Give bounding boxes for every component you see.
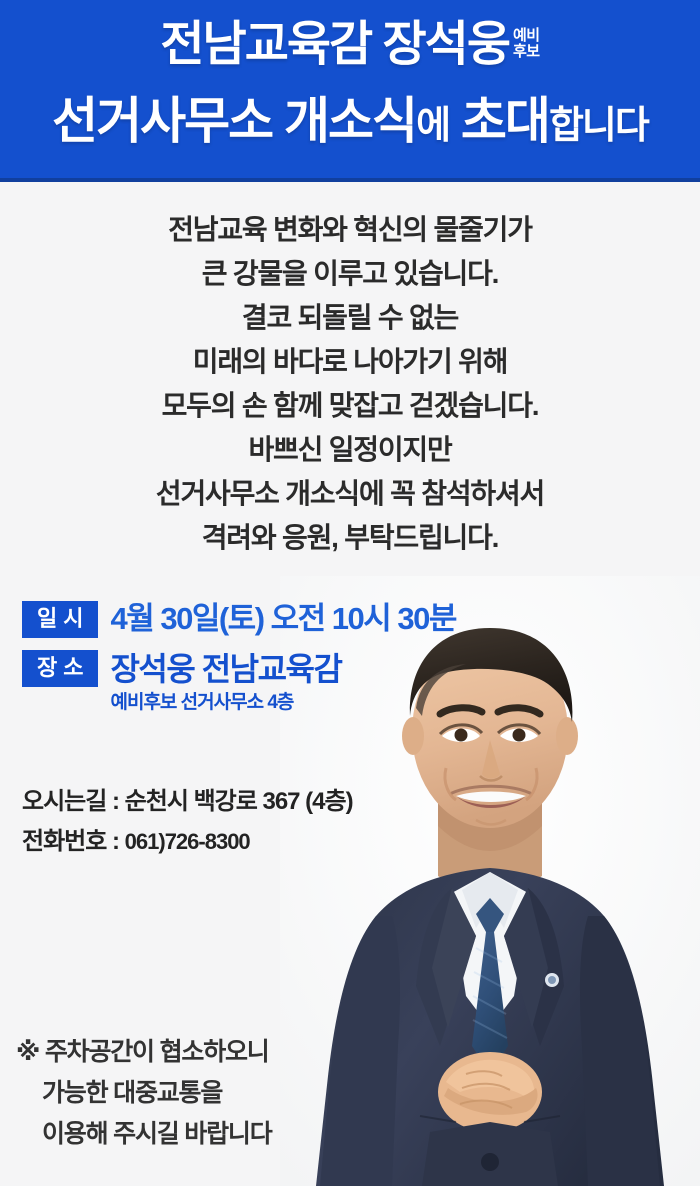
parking-notice: ※ 주차공간이 협소하오니 가능한 대중교통을 이용해 주시길 바랍니다	[16, 1032, 272, 1155]
notice-text-2: 가능한 대중교통을	[16, 1073, 272, 1114]
message-line: 모두의 손 함께 맞잡고 걷겠습니다.	[0, 384, 700, 428]
event-place-text-group: 장석웅 전남교육감 예비후보 선거사무소 4층	[110, 650, 341, 716]
banner-invite-suffix: 합니다	[549, 105, 648, 147]
banner-invite: 초대	[449, 93, 549, 149]
event-date-value: 4월 30일(토) 오전 10시 30분	[110, 600, 455, 638]
message-line: 전남교육 변화와 혁신의 물줄기가	[0, 208, 700, 252]
phone-value[interactable]: 061)726-8300	[125, 829, 250, 854]
place-badge-label: 장소	[22, 650, 98, 687]
invitation-message: 전남교육 변화와 혁신의 물줄기가 큰 강물을 이루고 있습니다. 결코 되돌릴…	[0, 208, 700, 560]
date-badge-label: 일시	[22, 601, 98, 638]
badge-line-bottom: 후보	[513, 44, 540, 60]
directions-label: 오시는길 :	[22, 788, 125, 815]
notice-text-1: 주차공간이 협소하오니	[45, 1038, 269, 1066]
event-place-row: 장소 장석웅 전남교육감 예비후보 선거사무소 4층	[22, 650, 462, 716]
notice-text-3: 이용해 주시길 바랍니다	[16, 1114, 272, 1155]
preliminary-candidate-badge: 예비 후보	[513, 28, 540, 60]
message-line: 결코 되돌릴 수 없는	[0, 296, 700, 340]
header-banner: 전남교육감 장석웅 예비 후보 선거사무소 개소식에 초대합니다	[0, 0, 700, 182]
phone-label: 전화번호 :	[22, 828, 125, 855]
directions-value: 순천시 백강로 367 (4층)	[125, 788, 353, 815]
banner-particle-e: 에	[416, 105, 449, 147]
banner-title-line2: 선거사무소 개소식에 초대합니다	[0, 92, 700, 155]
banner-office-opening: 선거사무소 개소식	[52, 93, 416, 149]
reference-mark-icon: ※	[16, 1038, 45, 1066]
badge-line-top: 예비	[513, 28, 540, 44]
message-line: 큰 강물을 이루고 있습니다.	[0, 252, 700, 296]
banner-title-main: 전남교육감 장석웅	[160, 18, 509, 71]
phone-row: 전화번호 : 061)726-8300	[22, 822, 353, 862]
message-line: 미래의 바다로 나아가기 위해	[0, 340, 700, 384]
event-date-row: 일시 4월 30일(토) 오전 10시 30분	[22, 600, 462, 638]
event-place-value: 장석웅 전남교육감	[110, 650, 341, 688]
directions-row: 오시는길 : 순천시 백강로 367 (4층)	[22, 782, 353, 822]
event-info-block: 일시 4월 30일(토) 오전 10시 30분 장소 장석웅 전남교육감 예비후…	[22, 600, 462, 716]
banner-title-line1: 전남교육감 장석웅 예비 후보	[0, 16, 700, 74]
message-line: 선거사무소 개소식에 꼭 참석하셔서	[0, 472, 700, 516]
event-place-subtext: 예비후보 선거사무소 4층	[110, 690, 341, 716]
contact-block: 오시는길 : 순천시 백강로 367 (4층) 전화번호 : 061)726-8…	[22, 782, 353, 862]
message-line: 격려와 응원, 부탁드립니다.	[0, 516, 700, 560]
message-line: 바쁘신 일정이지만	[0, 428, 700, 472]
notice-line-1: ※ 주차공간이 협소하오니	[16, 1032, 272, 1073]
